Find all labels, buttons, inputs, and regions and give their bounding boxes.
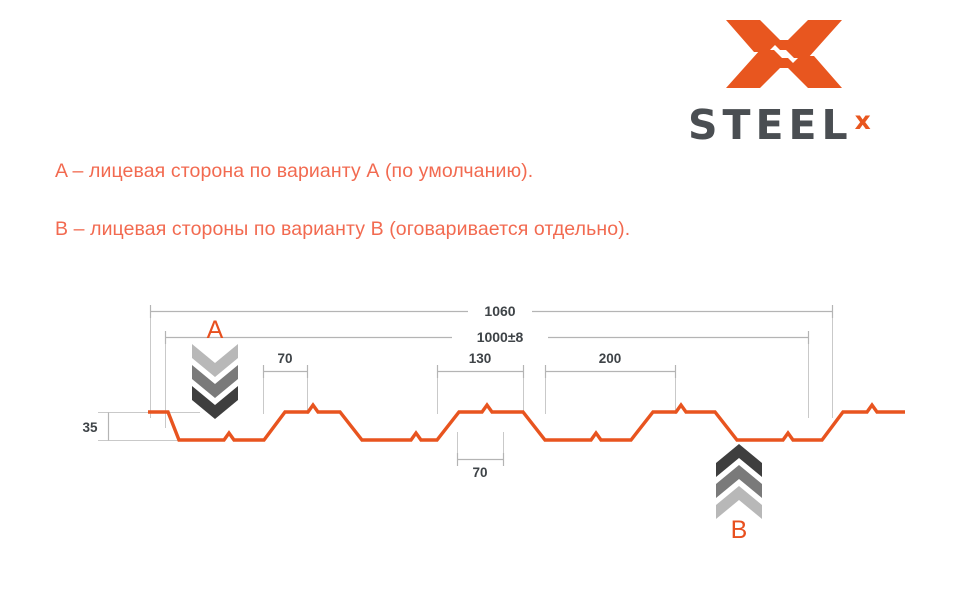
- steelx-logo: STEEL x: [688, 14, 898, 144]
- side-b-marker: B: [716, 444, 762, 544]
- dimension-labels: 1060 1000±8 70 130 200 70 35: [82, 302, 621, 480]
- logo-steel-text: STEEL: [688, 105, 853, 146]
- dim-label-1000: 1000±8: [477, 329, 524, 345]
- steelx-wordmark: STEEL x: [688, 100, 898, 146]
- caption-variant-b: В – лицевая стороны по варианту В (огова…: [55, 218, 630, 241]
- dim-label-35: 35: [82, 420, 98, 435]
- side-b-label: B: [731, 516, 748, 544]
- dim-label-1060: 1060: [484, 303, 515, 319]
- dim-label-130: 130: [469, 351, 492, 366]
- steelx-x-mark-icon: [724, 14, 844, 94]
- side-a-label: A: [207, 316, 224, 344]
- profile-technical-drawing: 1060 1000±8 70 130 200 70 35 A: [0, 280, 970, 570]
- sheet-profile-outline: [148, 405, 905, 440]
- logo-x-superscript: x: [855, 108, 871, 133]
- page-root: STEEL x A – лицевая сторона по варианту …: [0, 0, 970, 597]
- dim-label-70-top: 70: [277, 351, 292, 366]
- dim-label-70-bottom: 70: [472, 465, 487, 480]
- caption-variant-a: A – лицевая сторона по варианту А (по ум…: [55, 160, 533, 183]
- dim-label-200: 200: [599, 351, 622, 366]
- side-a-marker: A: [192, 316, 238, 419]
